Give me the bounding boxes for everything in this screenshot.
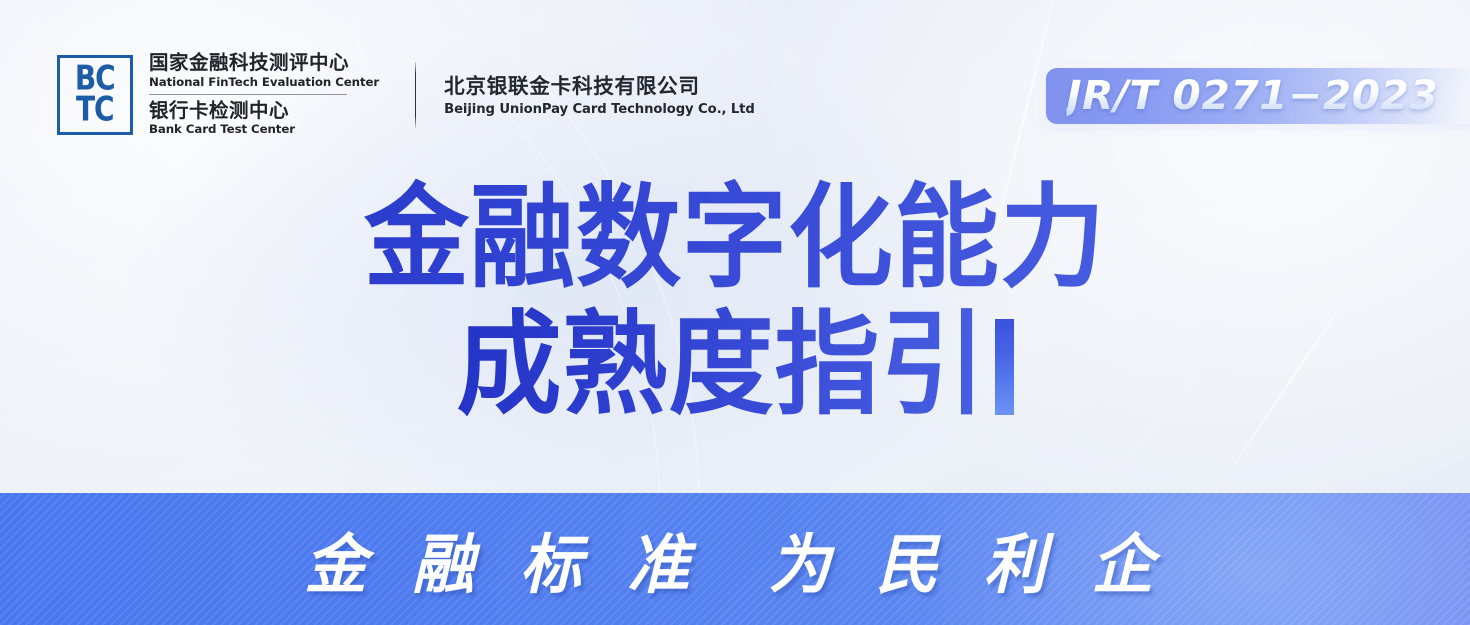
standard-promo-banner: BC TC 国家金融科技测评中心 National FinTech Evalua… <box>0 0 1470 625</box>
headline-line-2-row: 成熟度指引 <box>0 307 1470 425</box>
logo-text-block: 国家金融科技测评中心 National FinTech Evaluation C… <box>149 52 379 137</box>
evaluation-center-name-cn: 国家金融科技测评中心 <box>149 52 379 74</box>
headline-line-2: 成熟度指引 <box>456 302 986 428</box>
headline-line-1: 金融数字化能力 <box>0 176 1470 302</box>
bctc-logo-mark: BC TC <box>57 55 133 135</box>
standard-code-text: JR/T 0271−2023 <box>1066 73 1438 119</box>
header-vertical-divider <box>415 62 416 128</box>
evaluation-center-name-en: National FinTech Evaluation Center <box>149 75 379 90</box>
headline-accent-bar <box>995 319 1014 415</box>
organization-name-cn: 北京银联金卡科技有限公司 <box>444 74 755 99</box>
tagline-band: 金 融 标 准 为 民 利 企 <box>0 493 1470 625</box>
headline-block: 金融数字化能力 成熟度指引 <box>0 180 1470 424</box>
logo-divider-rule <box>149 94 347 95</box>
test-center-name-en: Bank Card Test Center <box>149 122 379 137</box>
tagline-text: 金 融 标 准 为 民 利 企 <box>305 512 1166 606</box>
header-logo-row: BC TC 国家金融科技测评中心 National FinTech Evalua… <box>57 52 755 137</box>
standard-code-badge: JR/T 0271−2023 <box>1046 68 1470 124</box>
organization-block: 北京银联金卡科技有限公司 Beijing UnionPay Card Techn… <box>444 72 755 118</box>
organization-name-en: Beijing UnionPay Card Technology Co., Lt… <box>444 102 755 117</box>
bctc-logo-mark-bottom: TC <box>76 94 113 127</box>
test-center-name-cn: 银行卡检测中心 <box>149 100 379 122</box>
